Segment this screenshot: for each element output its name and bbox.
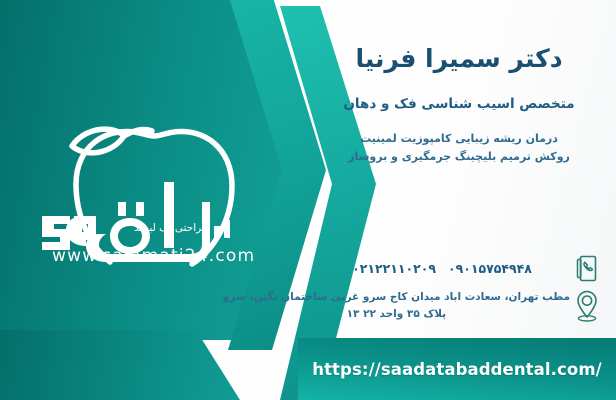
website-url[interactable]: https://saadatabaddental.com/	[298, 338, 616, 400]
address-line-1: مطب تهران، سعادت اباد میدان کاج سرو غربی…	[223, 289, 570, 306]
phone-number-landline: ۰۲۱۲۲۱۱۰۲۰۹	[352, 261, 436, 276]
phone-number-mobile: ۰۹۰۱۵۷۵۴۹۴۸	[448, 261, 532, 276]
service-line-2: روکش ترمیم بلیچینگ جرمگیری و بروساژ	[320, 148, 598, 166]
logo-website-url: www.salamati24.com	[52, 246, 252, 266]
map-pin-icon	[570, 286, 604, 326]
address-line-2: پلاک ۳۵ واحد ۲۲ ۱۳	[223, 306, 570, 323]
doctor-specialty: متخصص اسیب شناسی فک و دهان	[320, 96, 598, 112]
address-contact-row: مطب تهران، سعادت اباد میدان کاج سرو غربی…	[314, 286, 604, 326]
phone-book-icon	[570, 248, 604, 288]
phone-contact-row: ۰۲۱۲۲۱۱۰۲۰۹ ۰۹۰۱۵۷۵۴۹۴۸	[314, 248, 604, 288]
doctor-name: دکتر سمیرا فرنیا	[320, 44, 598, 73]
service-line-1: درمان ریشه زیبایی کامپوزیت لمینیت	[320, 130, 598, 148]
business-card: براحتی یک لبخند www.salamati24.com دکتر …	[0, 0, 616, 400]
phone-numbers: ۰۲۱۲۲۱۱۰۲۰۹ ۰۹۰۱۵۷۵۴۹۴۸	[314, 261, 570, 276]
services-list: درمان ریشه زیبایی کامپوزیت لمینیت روکش ت…	[320, 130, 598, 166]
clinic-address: مطب تهران، سعادت اباد میدان کاج سرو غربی…	[223, 289, 570, 323]
logo-tagline: براحتی یک لبخند	[134, 222, 244, 234]
